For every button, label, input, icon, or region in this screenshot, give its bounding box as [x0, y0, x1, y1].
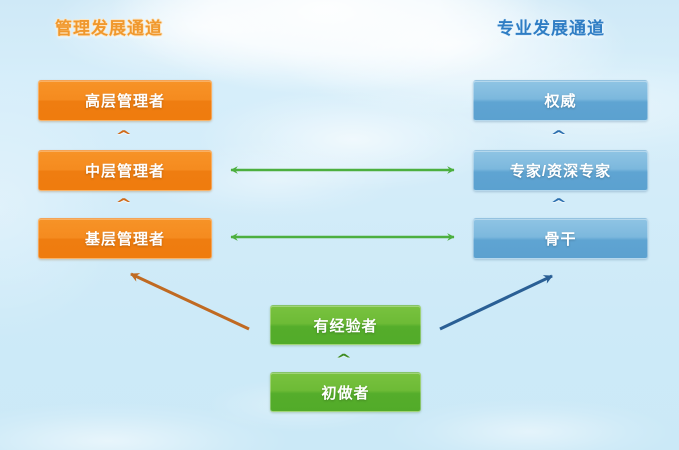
node-label: 有经验者 — [313, 315, 377, 336]
node-expert[interactable]: 专家/资深专家 — [473, 150, 648, 191]
node-label: 初做者 — [321, 382, 369, 403]
node-label: 权威 — [544, 90, 576, 111]
node-label: 骨干 — [544, 228, 576, 249]
node-backbone[interactable]: 骨干 — [473, 218, 648, 259]
career-path-diagram: 管理发展通道 专业发展通道 — [0, 0, 679, 450]
connector-experienced-to-junior-manager — [131, 274, 249, 329]
node-authority[interactable]: 权威 — [473, 80, 648, 121]
chevron-up-icon-entry: ^ — [335, 352, 352, 366]
node-label: 专家/资深专家 — [510, 160, 611, 181]
connector-experienced-to-backbone — [440, 276, 552, 329]
node-middle-manager[interactable]: 中层管理者 — [38, 150, 212, 191]
management-track-title: 管理发展通道 — [55, 20, 163, 37]
node-experienced[interactable]: 有经验者 — [270, 305, 421, 345]
chevron-up-icon-professional-upper: ^ — [550, 129, 567, 143]
node-label: 基层管理者 — [85, 228, 165, 249]
chevron-up-icon-management-upper: ^ — [115, 129, 132, 143]
node-senior-manager[interactable]: 高层管理者 — [38, 80, 212, 121]
node-label: 中层管理者 — [85, 160, 165, 181]
chevron-up-icon-management-lower: ^ — [115, 197, 132, 211]
node-junior-manager[interactable]: 基层管理者 — [38, 218, 212, 259]
chevron-up-icon-professional-lower: ^ — [550, 197, 567, 211]
professional-track-title: 专业发展通道 — [497, 20, 605, 37]
node-label: 高层管理者 — [85, 90, 165, 111]
node-beginner[interactable]: 初做者 — [270, 372, 421, 412]
